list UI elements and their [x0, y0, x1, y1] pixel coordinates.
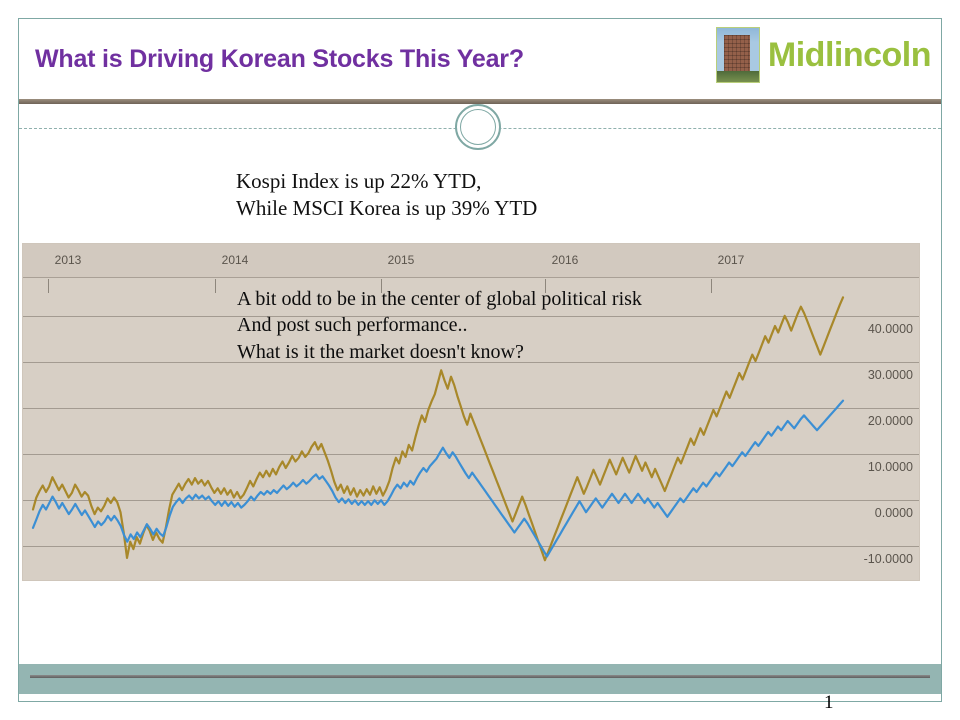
performance-chart: 20132014201520162017 40.000030.000020.00… — [22, 243, 920, 581]
annotation-line-3: What is it the market doesn't know? — [237, 339, 642, 365]
footer-band — [19, 664, 941, 694]
page-title: What is Driving Korean Stocks This Year? — [35, 45, 524, 74]
annotation-line-2: And post such performance.. — [237, 312, 642, 338]
page-number: 1 — [824, 692, 834, 714]
chart-caption: Kospi Index is up 22% YTD, While MSCI Ko… — [236, 168, 537, 221]
chart-series-line — [33, 401, 843, 557]
chart-annotation: A bit odd to be in the center of global … — [237, 286, 642, 365]
brand-logo: Midlincoln — [716, 27, 931, 83]
caption-line-1: Kospi Index is up 22% YTD, — [236, 168, 537, 195]
decorative-circle-icon — [455, 104, 501, 150]
brand-name: Midlincoln — [768, 38, 931, 72]
caption-line-2: While MSCI Korea is up 39% YTD — [236, 195, 537, 222]
slide: What is Driving Korean Stocks This Year?… — [0, 0, 960, 720]
slide-header: What is Driving Korean Stocks This Year?… — [19, 19, 941, 99]
building-photo-icon — [716, 27, 760, 83]
footer-divider — [30, 675, 930, 678]
annotation-line-1: A bit odd to be in the center of global … — [237, 286, 642, 312]
